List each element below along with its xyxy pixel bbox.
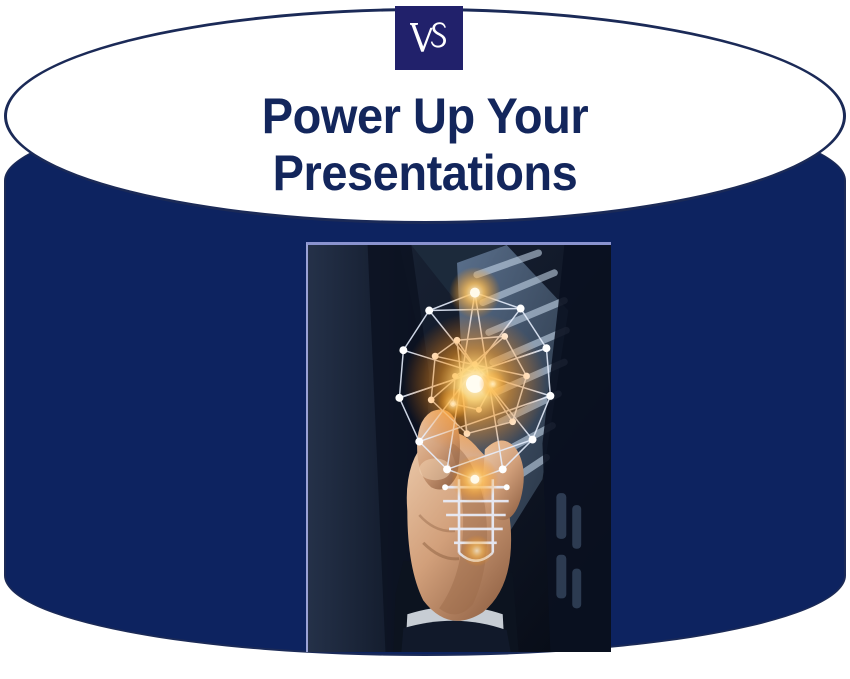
lightbulb-network-photo (306, 242, 611, 652)
slide-canvas: Power Up Your Presentations (0, 0, 850, 679)
title-line-2: Presentations (26, 145, 825, 202)
vs-monogram-logo-icon (395, 6, 463, 70)
title-line-1: Power Up Your (26, 88, 825, 145)
page-title: Power Up Your Presentations (26, 88, 825, 202)
photo-image (308, 245, 611, 652)
